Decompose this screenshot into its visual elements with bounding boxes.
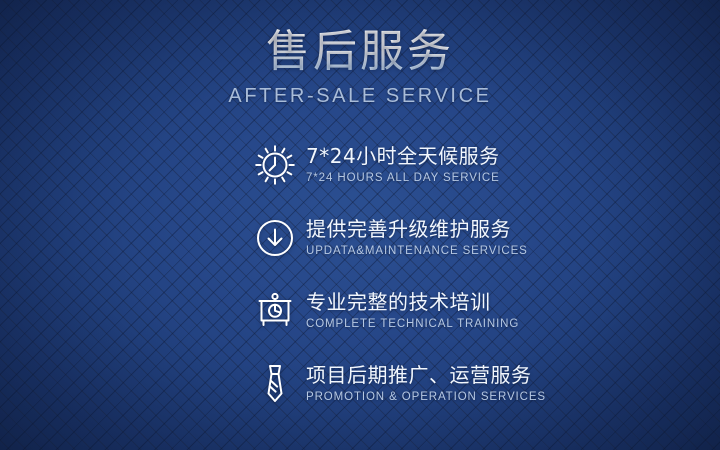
service-title-cn: 专业完整的技术培训 <box>306 290 519 315</box>
page-title: 售后服务 <box>0 26 720 78</box>
service-title-en: 7*24 HOURS ALL DAY SERVICE <box>306 171 500 185</box>
page-subtitle: AFTER-SALE SERVICE <box>0 84 720 108</box>
after-sale-service-poster: 售后服务 AFTER-SALE SERVICE <box>0 0 720 450</box>
poster-content: 售后服务 AFTER-SALE SERVICE <box>0 0 720 450</box>
presentation-board-icon <box>252 288 298 334</box>
service-item-all-day: 7*24小时全天候服务 7*24 HOURS ALL DAY SERVICE <box>252 128 672 201</box>
service-text: 专业完整的技术培训 COMPLETE TECHNICAL TRAINING <box>306 290 519 331</box>
service-text: 提供完善升级维护服务 UPDATA&MAINTENANCE SERVICES <box>306 217 528 258</box>
service-title-cn: 7*24小时全天候服务 <box>306 144 500 169</box>
service-item-training: 专业完整的技术培训 COMPLETE TECHNICAL TRAINING <box>252 274 672 347</box>
poster-header: 售后服务 AFTER-SALE SERVICE <box>0 26 720 108</box>
download-circle-icon <box>252 215 298 261</box>
service-title-cn: 提供完善升级维护服务 <box>306 217 528 242</box>
service-title-cn: 项目后期推广、运营服务 <box>306 363 546 388</box>
service-item-promotion: 项目后期推广、运营服务 PROMOTION & OPERATION SERVIC… <box>252 347 672 420</box>
service-title-en: PROMOTION & OPERATION SERVICES <box>306 390 546 404</box>
service-list: 7*24小时全天候服务 7*24 HOURS ALL DAY SERVICE 提… <box>252 128 672 420</box>
service-text: 项目后期推广、运营服务 PROMOTION & OPERATION SERVIC… <box>306 363 546 404</box>
clock-rays-icon <box>252 142 298 188</box>
necktie-icon <box>252 361 298 407</box>
service-text: 7*24小时全天候服务 7*24 HOURS ALL DAY SERVICE <box>306 144 500 185</box>
service-title-en: COMPLETE TECHNICAL TRAINING <box>306 317 519 331</box>
service-title-en: UPDATA&MAINTENANCE SERVICES <box>306 244 528 258</box>
service-item-maintenance: 提供完善升级维护服务 UPDATA&MAINTENANCE SERVICES <box>252 201 672 274</box>
